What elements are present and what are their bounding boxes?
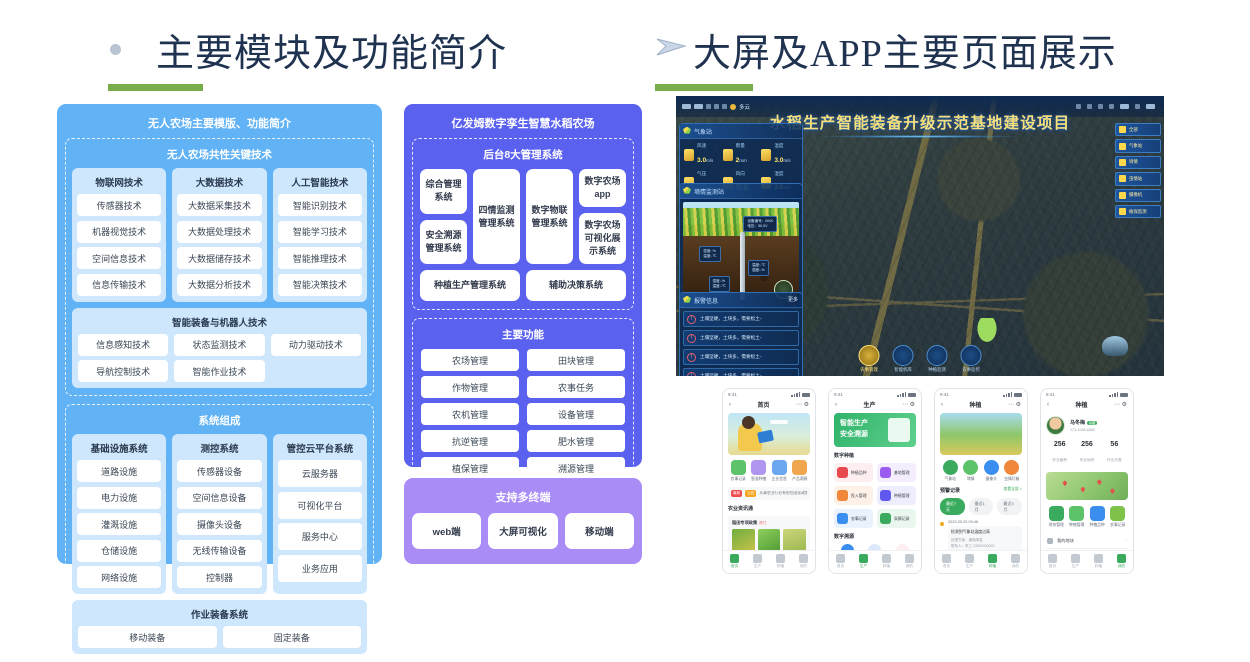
news-thumb <box>758 529 781 550</box>
function-cell[interactable]: 作物管理 <box>421 376 519 398</box>
phone-status-bar: 9:41 <box>723 389 815 398</box>
tab-profile[interactable]: 我的 <box>898 554 921 570</box>
farm-surveillance-icon <box>961 345 982 366</box>
indicator-icon <box>1120 104 1129 109</box>
key-technology-group: 无人农场共性关键技术 物联网技术 传感器技术 机器视觉技术 空间信息技术 信息传… <box>65 138 374 396</box>
news-hot-tag: 热门 <box>759 521 766 525</box>
metric-label: 风速 <box>697 143 713 149</box>
weather-icon <box>730 104 736 110</box>
segment-button[interactable]: 最近7天 <box>940 498 965 515</box>
quick-icon-label: 农事记录 <box>1108 523 1129 528</box>
system-cell[interactable]: 种植生产管理系统 <box>420 270 520 301</box>
more-settings-icons[interactable]: ⋯ ⚙ <box>1008 401 1021 408</box>
battery-icon <box>1120 393 1128 397</box>
systems-column-4: 数字农场app 数字农场可视化展示系统 <box>579 169 626 264</box>
back-icon[interactable]: ‹ <box>729 402 731 408</box>
grid-item-label: 种植品种 <box>851 470 867 476</box>
metric-unit: mm <box>739 158 746 163</box>
layer-label: 全部 <box>1129 127 1138 133</box>
weather-metric: 温度 3.0m/s <box>761 143 800 167</box>
quick-icon-label: 地块管理 <box>1046 523 1067 528</box>
quick-icon-item[interactable]: 产品溯源 <box>790 460 811 482</box>
verified-badge: 认证 <box>1087 421 1097 425</box>
layer-menu-item[interactable]: 气象站 <box>1115 139 1161 152</box>
tab-label: 生产 <box>852 564 875 569</box>
production-icon <box>859 554 868 563</box>
metric-label: 湿度 <box>774 171 790 177</box>
profile-name-text: 马冬梅 <box>1070 420 1085 426</box>
sys-cell[interactable]: 网络设施 <box>77 566 161 588</box>
terminal-mobile[interactable]: 移动端 <box>565 513 634 549</box>
quick-icon-item[interactable]: 企业信息 <box>769 460 790 482</box>
tab-label: 种植 <box>875 564 898 569</box>
indicator-icon <box>1087 104 1092 109</box>
sys-column-infrastructure: 基础设施系统 道路设施 电力设施 灌溉设施 仓储设施 网络设施 <box>72 434 166 594</box>
tech-column-bigdata: 大数据技术 大数据采集技术 大数据处理技术 大数据储存技术 大数据分析技术 <box>172 168 266 302</box>
tab-label: 生产 <box>1064 564 1087 569</box>
weather-station-icon <box>943 460 958 475</box>
home-icon <box>1048 554 1057 563</box>
phone-title: 种植 <box>1075 400 1087 409</box>
system-composition-group: 系统组成 基础设施系统 道路设施 电力设施 灌溉设施 仓储设施 网络设施 测控系… <box>65 404 374 662</box>
layer-menu-item[interactable]: 墒情 <box>1115 156 1161 169</box>
view-all-link[interactable]: 查看全部 > <box>1004 487 1022 492</box>
digital-twin-panel: 亿发姆数字孪生智慧水稻农场 后台8大管理系统 综合管理系统 安全溯源管理系统 四… <box>404 104 642 467</box>
tab-label: 我的 <box>1004 564 1027 569</box>
layer-menu-item[interactable]: 全部 <box>1115 123 1161 136</box>
back-icon[interactable]: ‹ <box>835 402 837 408</box>
stat-item: 56 作业天数 <box>1101 441 1128 466</box>
production-icon <box>965 554 974 563</box>
layer-label: 墒情 <box>1129 159 1138 165</box>
column-head: 物联网技术 <box>77 173 161 194</box>
function-cell[interactable]: 农事任务 <box>527 376 625 398</box>
status-dot-icon <box>722 104 727 109</box>
sys-cell[interactable]: 电力设施 <box>77 487 161 509</box>
signal-icon <box>791 392 800 397</box>
grid-item-label: 基地管理 <box>894 470 910 476</box>
alarm-text: 土壤坚硬，土块多，需要松土 <box>700 354 762 360</box>
tab-profile[interactable]: 我的 <box>1004 554 1027 570</box>
tab-home[interactable]: 首页 <box>1041 554 1064 570</box>
function-cell[interactable]: 植保管理 <box>421 457 519 479</box>
planting-icon <box>776 554 785 563</box>
menu-row[interactable]: 我的地块 › <box>1046 533 1128 549</box>
grid-item[interactable]: 农事记录 <box>834 509 873 528</box>
column-head: 管控云平台系统 <box>278 439 362 460</box>
variety-icon <box>837 467 848 478</box>
digital-planting-title: 数字种植 <box>834 452 916 459</box>
tab-home[interactable]: 首页 <box>829 554 852 570</box>
notice-tag-secondary: 公告 <box>745 490 756 497</box>
profile-phone: 173-1068-8080 <box>1070 428 1097 432</box>
soil-probe-graphic <box>740 232 745 300</box>
system-cell[interactable]: 数字物联管理系统 <box>526 169 573 264</box>
left-header-underline <box>108 84 203 91</box>
big-screen-dashboard: 多云 水稻生产智能装备升级示范基地建设项目 气象站 风速 3.0m/s <box>676 96 1164 376</box>
tab-label: 首页 <box>829 564 852 569</box>
quick-icon-item[interactable]: 种植管理 <box>1067 506 1088 528</box>
sys-cell[interactable]: 传感器设备 <box>177 460 261 482</box>
news-section-title: 农业资讯通 <box>728 505 810 512</box>
alarm-row[interactable]: ! 土壤坚硬，土块多，需要松土 <box>683 368 799 376</box>
band-cell[interactable]: 状态监测技术 <box>174 334 264 356</box>
sys-cell[interactable]: 无线传输设备 <box>177 540 261 562</box>
sys-cell[interactable]: 空间信息设备 <box>177 487 261 509</box>
tab-planting[interactable]: 种植 <box>769 554 792 570</box>
tab-label: 首页 <box>723 564 746 569</box>
tech-cell[interactable]: 智能决策技术 <box>278 274 362 296</box>
system-cell[interactable]: 辅助决策系统 <box>526 270 626 301</box>
sys-cell[interactable]: 业务应用 <box>278 555 362 582</box>
farm-record-icon <box>731 460 746 475</box>
alarm-row[interactable]: ! 土壤坚硬，土块多，需要松土 <box>683 330 799 346</box>
band-cell[interactable]: 移动装备 <box>78 626 217 648</box>
backend-systems-title: 后台8大管理系统 <box>420 144 626 169</box>
profile-quick-icons: 地块管理 种植管理 种植品种 农事记录 <box>1046 506 1128 528</box>
right-header-title: 大屏及APP主要页面展示 <box>693 22 1117 77</box>
layer-label: 虫情站 <box>1129 176 1142 182</box>
system-cell[interactable]: 四情监测管理系统 <box>473 169 520 264</box>
unmanned-farm-panel: 无人农场主要模版、功能简介 无人农场共性关键技术 物联网技术 传感器技术 机器视… <box>57 104 382 564</box>
band-cell[interactable]: 智能作业技术 <box>174 360 264 382</box>
smart-planting-icon <box>751 460 766 475</box>
sys-cell[interactable]: 服务中心 <box>278 523 362 550</box>
news-title-text: 稻田专项政策 <box>732 520 757 525</box>
layer-label: 摄像机 <box>1129 192 1142 198</box>
field-map-card[interactable] <box>1046 472 1128 500</box>
tab-production[interactable]: 生产 <box>1064 554 1087 570</box>
sys-cell[interactable]: 可视化平台 <box>278 492 362 519</box>
sys-cell[interactable]: 控制器 <box>177 566 261 588</box>
quick-icon-label: 种植品种 <box>1087 523 1108 528</box>
tab-production[interactable]: 生产 <box>958 554 981 570</box>
tab-profile[interactable]: 我的 <box>1110 554 1133 570</box>
tech-cell[interactable]: 大数据采集技术 <box>177 194 261 216</box>
stat-value: 256 <box>1046 441 1073 448</box>
status-indicators <box>791 392 810 397</box>
metric-label: 气压 <box>697 171 713 177</box>
status-time: 9:41 <box>728 392 737 397</box>
tab-production[interactable]: 生产 <box>852 554 875 570</box>
warning-icon: ! <box>687 372 696 377</box>
timeline-dot-icon <box>940 522 944 526</box>
stat-item: 256 作业面积 <box>1046 441 1073 466</box>
avatar <box>1046 416 1065 435</box>
systems-column-2: 四情监测管理系统 <box>473 169 520 264</box>
phone-status-bar: 9:41 <box>935 389 1027 398</box>
cloud-icon <box>694 104 703 109</box>
camera-icon <box>984 460 999 475</box>
profile-header[interactable]: 马冬梅认证 173-1068-8080 <box>1046 413 1128 441</box>
profile-icon <box>1117 554 1126 563</box>
sys-cell[interactable]: 灌溉设施 <box>77 513 161 535</box>
phone-title: 生产 <box>863 400 875 409</box>
stat-value: 256 <box>1073 441 1100 448</box>
system-cell[interactable]: 数字农场app <box>579 169 626 207</box>
indicator-icon <box>1076 104 1081 109</box>
band-head: 作业装备系统 <box>78 605 361 626</box>
input-management-icon <box>837 490 848 501</box>
function-cell[interactable]: 农场管理 <box>421 349 519 371</box>
tab-label: 种植 <box>1087 564 1110 569</box>
bullet-dot-icon <box>110 44 121 55</box>
tab-profile[interactable]: 我的 <box>792 554 815 570</box>
quick-icon-label: 农事记录 <box>728 477 749 482</box>
soil-cross-section-image: 设备编号：0000 电压：50.0V 湿度:-% 温度:-℃ 温度:-℃ 湿度:… <box>683 202 799 305</box>
digital-planting-grid: 种植品种 基地管理 投入管理 种植管理 农事记录 采摘记录 <box>834 463 916 528</box>
quick-icon-item[interactable]: 虫情灯箱 <box>1002 460 1023 482</box>
column-head: 大数据技术 <box>177 173 261 194</box>
status-time: 9:41 <box>1046 392 1055 397</box>
phone-nav-bar: ‹ 生产 ⋯ ⚙ <box>829 398 921 413</box>
system-cell[interactable]: 数字农场可视化展示系统 <box>579 213 626 264</box>
tech-cell[interactable]: 大数据处理技术 <box>177 221 261 243</box>
sys-cell[interactable]: 道路设施 <box>77 460 161 482</box>
grid-item[interactable]: 基地管理 <box>877 463 916 482</box>
tech-column-iot: 物联网技术 传感器技术 机器视觉技术 空间信息技术 信息传输技术 <box>72 168 166 302</box>
tab-label: 种植 <box>981 564 1004 569</box>
dashboard-bottom-nav: 农事管理 智能机库 种植监测 农事监控 <box>859 345 982 373</box>
phone-nav-bar: ‹ 种植 ⋯ ⚙ <box>1041 398 1133 413</box>
sys-cell[interactable]: 仓储设施 <box>77 540 161 562</box>
back-icon[interactable]: ‹ <box>941 402 943 408</box>
notice-tag: 最新 <box>731 490 742 497</box>
tech-cell[interactable]: 机器视觉技术 <box>77 221 161 243</box>
terminal-bigscreen[interactable]: 大屏可视化 <box>488 513 557 549</box>
status-indicators <box>897 392 916 397</box>
stat-label: 作业天数 <box>1107 458 1122 462</box>
dashboard-nav-item[interactable]: 种植监测 <box>927 345 948 373</box>
alarm-text: 土壤坚硬，土块多，需要松土 <box>700 316 762 322</box>
signal-icon <box>1003 392 1012 397</box>
band-cell-empty <box>271 360 361 382</box>
stat-item: 256 作业地块 <box>1073 441 1100 466</box>
quick-icon-label: 企业信息 <box>769 477 790 482</box>
grid-item[interactable]: 采摘记录 <box>877 509 916 528</box>
quick-icon-label: 种植管理 <box>1067 523 1088 528</box>
band-head: 智能装备与机器人技术 <box>78 313 361 334</box>
quick-icon-item[interactable]: 摄像头 <box>981 460 1002 482</box>
phone-status-bar: 9:41 <box>1041 389 1133 398</box>
right-header-underline <box>655 84 753 91</box>
battery-icon <box>908 393 916 397</box>
function-cell[interactable]: 田块管理 <box>527 349 625 371</box>
battery-icon <box>802 393 810 397</box>
app-screen-planting: 9:41 ‹ 种植 ⋯ ⚙ 气象站 墒情 摄像头 <box>934 388 1028 574</box>
main-functions-group: 主要功能 农场管理 作物管理 农机管理 抗逆管理 植保管理 田块管理 农事任务 … <box>412 318 634 488</box>
weather-label: 多云 <box>739 103 750 111</box>
alarm-more-link[interactable]: 更多 <box>788 296 798 303</box>
band-cell[interactable]: 导航控制技术 <box>78 360 168 382</box>
alarm-text: 土壤坚硬，土块多，需要松土 <box>700 335 762 341</box>
farm-management-icon <box>859 345 880 366</box>
tech-cell[interactable]: 智能推理技术 <box>278 247 362 269</box>
signal-icon <box>897 392 906 397</box>
news-title: 稻田专项政策热门 <box>732 520 806 526</box>
tab-home[interactable]: 首页 <box>935 554 958 570</box>
planting-management-icon <box>880 490 891 501</box>
function-cell[interactable]: 溯源管理 <box>527 457 625 479</box>
tech-cell[interactable]: 大数据分析技术 <box>177 274 261 296</box>
profile-stats: 256 作业面积 256 作业地块 56 作业天数 <box>1046 441 1128 472</box>
system-cell[interactable]: 安全溯源管理系统 <box>420 220 467 265</box>
soil-moisture-icon <box>963 460 978 475</box>
weather-station-icon <box>1119 143 1126 150</box>
function-cell[interactable]: 农机管理 <box>421 403 519 425</box>
tab-planting[interactable]: 种植 <box>875 554 898 570</box>
news-card[interactable]: 稻田专项政策热门 不同水稻：促高温高产，促高温高产 不同水稻：促高温高产 合理施… <box>728 516 810 550</box>
layer-menu-item[interactable]: 摄像机 <box>1115 189 1161 202</box>
operation-equipment-band: 作业装备系统 移动装备 固定装备 <box>72 600 367 654</box>
band-cell[interactable]: 信息感知技术 <box>78 334 168 356</box>
quick-icon-item[interactable]: 农事记录 <box>1108 506 1129 528</box>
function-cell[interactable]: 抗逆管理 <box>421 430 519 452</box>
profile-icon <box>905 554 914 563</box>
grid-icon <box>1119 126 1126 133</box>
news-thumb <box>783 529 806 550</box>
lilac-panel-title: 支持多终端 <box>412 485 634 513</box>
tab-production[interactable]: 生产 <box>746 554 769 570</box>
digital-traceability-title: 数字溯源 <box>834 533 916 540</box>
terminal-web[interactable]: web端 <box>412 513 481 549</box>
planting-management-icon <box>1069 506 1084 521</box>
app-screen-production: 9:41 ‹ 生产 ⋯ ⚙ 智能生产 安全溯源 数字种植 种植品种 基地管理 <box>828 388 922 574</box>
tech-cell[interactable]: 智能学习技术 <box>278 221 362 243</box>
timeline-item[interactable]: 2023-05-25 09:48 检测到气象站温度过高 处理方案：通风降温 联系… <box>940 520 1022 550</box>
quick-icon-item[interactable]: 气象站 <box>940 460 961 482</box>
phone-tabbar: 首页 生产 种植 我的 <box>1041 550 1133 574</box>
warning-icon: ! <box>687 353 696 362</box>
tab-home[interactable]: 首页 <box>723 554 746 570</box>
system-cell[interactable]: 综合管理系统 <box>420 169 467 214</box>
tab-label: 生产 <box>746 564 769 569</box>
alert-records-label: 预警记录 <box>940 488 960 494</box>
home-notice-bar[interactable]: 最新 公告 从事农业行业有那些国家政策可享受补贴... <box>728 487 810 500</box>
drone-icon <box>770 420 788 424</box>
quick-icon-item[interactable]: 智慧种植 <box>749 460 770 482</box>
quick-icon-item[interactable]: 地块管理 <box>1046 506 1067 528</box>
tab-planting[interactable]: 种植 <box>981 554 1004 570</box>
chevron-right-icon: › <box>1126 538 1128 543</box>
banner-certificate-icon <box>888 418 910 442</box>
blue-panel-title: 无人农场主要模版、功能简介 <box>65 111 374 138</box>
farmer-head <box>742 416 755 429</box>
planting-icon <box>1094 554 1103 563</box>
dashboard-nav-item[interactable]: 农事监控 <box>961 345 982 373</box>
phone-nav-bar: ‹ 种植 ⋯ ⚙ <box>935 398 1027 413</box>
map-tree-marker <box>976 318 998 344</box>
planting-hero-photo <box>940 413 1022 455</box>
layer-menu-item[interactable]: 虫情站 <box>1115 172 1161 185</box>
tech-cell[interactable]: 信息传输技术 <box>77 274 161 296</box>
band-cell[interactable]: 固定装备 <box>223 626 362 648</box>
band-cell[interactable]: 动力驱动技术 <box>271 334 361 356</box>
stat-label: 作业面积 <box>1052 458 1067 462</box>
grid-item[interactable]: 种植品种 <box>834 463 873 482</box>
key-technology-title: 无人农场共性关键技术 <box>72 144 367 168</box>
metric-label: 雨量 <box>736 143 747 149</box>
indicator-icon <box>1109 104 1114 109</box>
status-indicators <box>1003 392 1022 397</box>
alarm-row[interactable]: ! 土壤坚硬，土块多，需要松土 <box>683 311 799 327</box>
left-header-title: 主要模块及功能简介 <box>156 22 507 77</box>
grid-item[interactable]: 种植管理 <box>877 486 916 505</box>
tech-cell[interactable]: 智能识别技术 <box>278 194 362 216</box>
production-icon <box>1071 554 1080 563</box>
map-dome-marker <box>1102 336 1128 356</box>
dashboard-nav-item[interactable]: 农事管理 <box>859 345 880 373</box>
production-banner: 智能生产 安全溯源 <box>834 413 916 447</box>
segment-button[interactable]: 最近3月 <box>997 498 1022 515</box>
sys-cell[interactable]: 云服务器 <box>278 460 362 487</box>
function-cell[interactable]: 设备管理 <box>527 403 625 425</box>
more-settings-icons[interactable]: ⋯ ⚙ <box>1114 401 1127 408</box>
quick-icon-label: 墒情 <box>961 477 982 482</box>
quick-icon-item[interactable]: 农事记录 <box>728 460 749 482</box>
profile-menu-list: 我的地块 › 关于我们 › 分享 › 设置 › <box>1046 533 1128 550</box>
quick-icon-label: 智慧种植 <box>749 477 770 482</box>
nav-label: 农事管理 <box>859 367 880 373</box>
tab-label: 生产 <box>958 564 981 569</box>
stat-label: 作业地块 <box>1080 458 1095 462</box>
camera-icon <box>1119 192 1126 199</box>
tech-cell[interactable]: 空间信息技术 <box>77 247 161 269</box>
grid-item-label: 投入管理 <box>851 493 867 499</box>
tech-cell[interactable]: 传感器技术 <box>77 194 161 216</box>
alarm-row[interactable]: ! 土壤坚硬，土块多，需要松土 <box>683 349 799 365</box>
tab-planting[interactable]: 种植 <box>1087 554 1110 570</box>
weather-metric: 风速 3.0m/s <box>684 143 723 167</box>
column-head: 人工智能技术 <box>278 173 362 194</box>
sys-cell[interactable]: 摄像头设备 <box>177 513 261 535</box>
banner-title: 智能生产 安全溯源 <box>840 419 868 440</box>
function-cell[interactable]: 肥水管理 <box>527 430 625 452</box>
more-settings-icons[interactable]: ⋯ ⚙ <box>796 401 809 408</box>
status-dot-icon <box>714 104 719 109</box>
arrow-right-icon <box>655 34 689 65</box>
grid-item[interactable]: 投入管理 <box>834 486 873 505</box>
quick-icon-item[interactable]: 墒情 <box>961 460 982 482</box>
back-icon[interactable]: ‹ <box>1047 402 1049 408</box>
more-settings-icons[interactable]: ⋯ ⚙ <box>902 401 915 408</box>
nav-label: 农事监控 <box>961 367 982 373</box>
quick-icon-item[interactable]: 种植品种 <box>1087 506 1108 528</box>
harvest-record-icon <box>880 513 891 524</box>
quick-icon-label: 气象站 <box>940 477 961 482</box>
quick-icon-label: 产品溯源 <box>790 477 811 482</box>
layer-menu-item[interactable]: 植保监测 <box>1115 205 1161 218</box>
phone-status-bar: 9:41 <box>829 389 921 398</box>
indicator-icon <box>1098 104 1103 109</box>
map-pin-icon <box>1110 488 1115 494</box>
farm-record-icon <box>1110 506 1125 521</box>
profile-icon <box>799 554 808 563</box>
dashboard-nav-item[interactable]: 智能机库 <box>893 345 914 373</box>
rainfall-icon <box>723 149 733 161</box>
signal-icon <box>1109 392 1118 397</box>
backend-systems-group: 后台8大管理系统 综合管理系统 安全溯源管理系统 四情监测管理系统 数字物联管理… <box>412 138 634 310</box>
tech-cell[interactable]: 大数据储存技术 <box>177 247 261 269</box>
my-fields-icon <box>1047 538 1053 544</box>
indicator-icon <box>1146 104 1155 109</box>
stat-value: 56 <box>1101 441 1128 448</box>
timeline-card: 检测到气象站温度过高 处理方案：通风降温 联系人：李工 13800000000 <box>948 526 1022 550</box>
cloud-icon <box>682 104 691 109</box>
segment-button[interactable]: 最近1月 <box>969 498 994 515</box>
phone-title: 种植 <box>969 400 981 409</box>
tab-label: 首页 <box>1041 564 1064 569</box>
